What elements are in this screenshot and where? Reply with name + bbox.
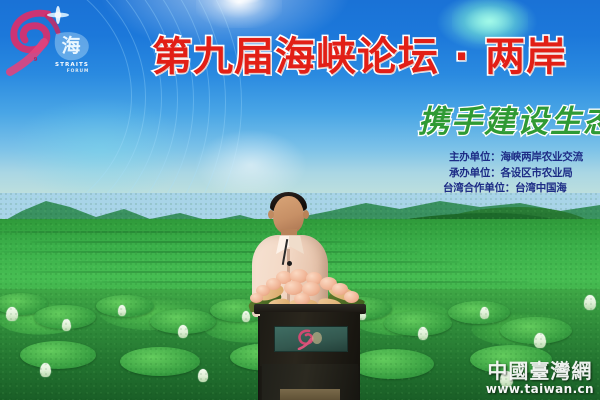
star-sparkle-icon xyxy=(224,0,260,4)
logo-character: 海 xyxy=(61,34,80,57)
podium-logo-plate xyxy=(274,326,348,352)
organizer-line: 承办单位：各设区市农业局 xyxy=(449,166,600,182)
logo-numeral: 9 xyxy=(34,57,39,63)
podium-logo-icon xyxy=(295,328,329,350)
ear-right xyxy=(303,210,309,219)
logo-latin-sub: FORUM xyxy=(67,68,90,74)
podium-foot xyxy=(280,389,340,400)
ear-left xyxy=(268,210,274,219)
event-title-subtitle: 携手建设生态 xyxy=(418,104,600,140)
microphone-icon xyxy=(287,261,292,266)
straits-forum-logo: 海 9 STRAITS FORUM xyxy=(4,4,112,82)
light-flare-icon xyxy=(196,0,282,28)
site-watermark: 中國臺灣網 www.taiwan.cn xyxy=(486,360,594,396)
organizer-line: 主办单位：海峡两岸农业交流 xyxy=(449,150,600,166)
watermark-site-name: 中國臺灣網 xyxy=(486,360,594,382)
watermark-url: www.taiwan.cn xyxy=(486,382,594,396)
speaker-at-podium xyxy=(232,183,382,400)
logo-latin-name: STRAITS xyxy=(55,62,89,68)
event-title-main: 第九届海峡论坛 · 两岸 xyxy=(152,33,567,81)
organizer-credits: 主办单位：海峡两岸农业交流 承办单位：各设区市农业局 台湾合作单位：台湾中国海 xyxy=(449,150,600,197)
logo-artwork-icon: 海 9 STRAITS FORUM xyxy=(4,4,112,82)
photo-screenshot: 海 9 STRAITS FORUM 第九届海峡论坛 · 两岸 携手建设生态 主办… xyxy=(0,0,600,400)
